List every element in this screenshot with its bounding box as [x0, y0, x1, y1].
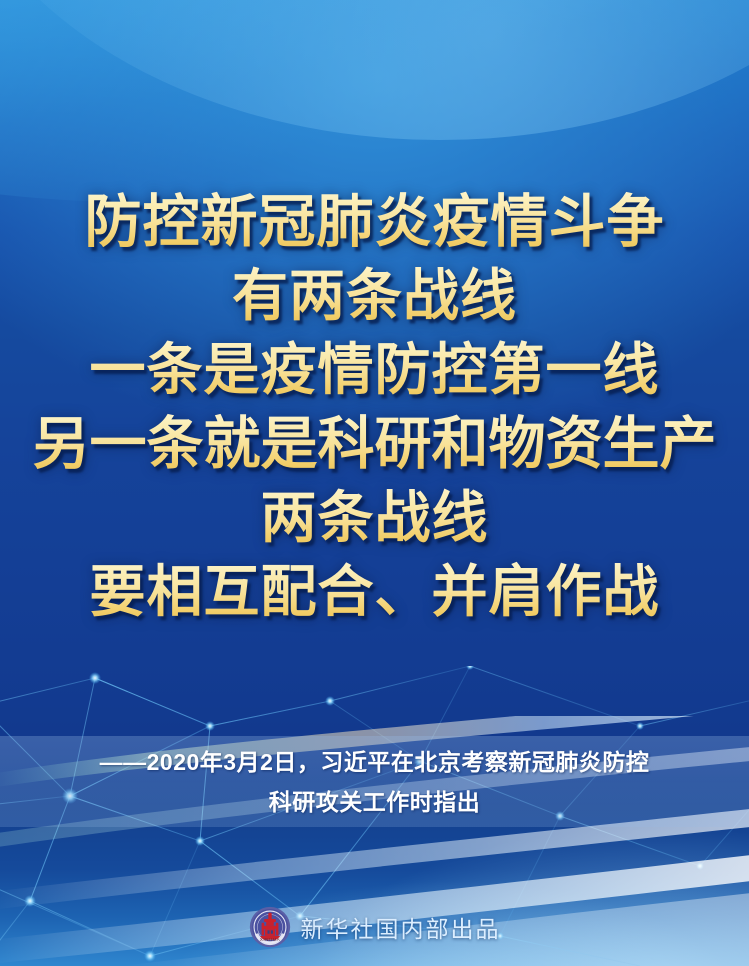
quote-line-4: 另一条就是科研和物资生产 — [0, 408, 749, 482]
arc-shape-mid — [0, 0, 749, 180]
quote-line-1: 防控新冠肺炎疫情斗争 — [0, 186, 749, 260]
quote-block: 防控新冠肺炎疫情斗争 有两条战线 一条是疫情防控第一线 另一条就是科研和物资生产… — [0, 186, 749, 630]
footer-label: 新华社国内部出品 — [301, 910, 501, 944]
footer: XINHUA 新华社国内部出品 — [0, 906, 749, 948]
svg-text:XINHUA: XINHUA — [259, 937, 280, 942]
attribution-line-2: 科研攻关工作时指出 — [269, 782, 481, 822]
quote-line-5: 两条战线 — [0, 482, 749, 556]
attribution-block: ——2020年3月2日，习近平在北京考察新冠肺炎防控 科研攻关工作时指出 — [0, 736, 749, 827]
xinhua-logo-icon: XINHUA — [249, 906, 291, 948]
quote-line-6: 要相互配合、并肩作战 — [0, 556, 749, 630]
quote-line-3: 一条是疫情防控第一线 — [0, 334, 749, 408]
arc-shape-pale — [260, 0, 749, 140]
poster-canvas: 防控新冠肺炎疫情斗争 有两条战线 一条是疫情防控第一线 另一条就是科研和物资生产… — [0, 0, 749, 966]
arc-glow — [0, 0, 749, 140]
attribution-line-1: ——2020年3月2日，习近平在北京考察新冠肺炎防控 — [100, 742, 650, 782]
quote-line-2: 有两条战线 — [0, 260, 749, 334]
arc-shape-dark — [0, 0, 749, 200]
